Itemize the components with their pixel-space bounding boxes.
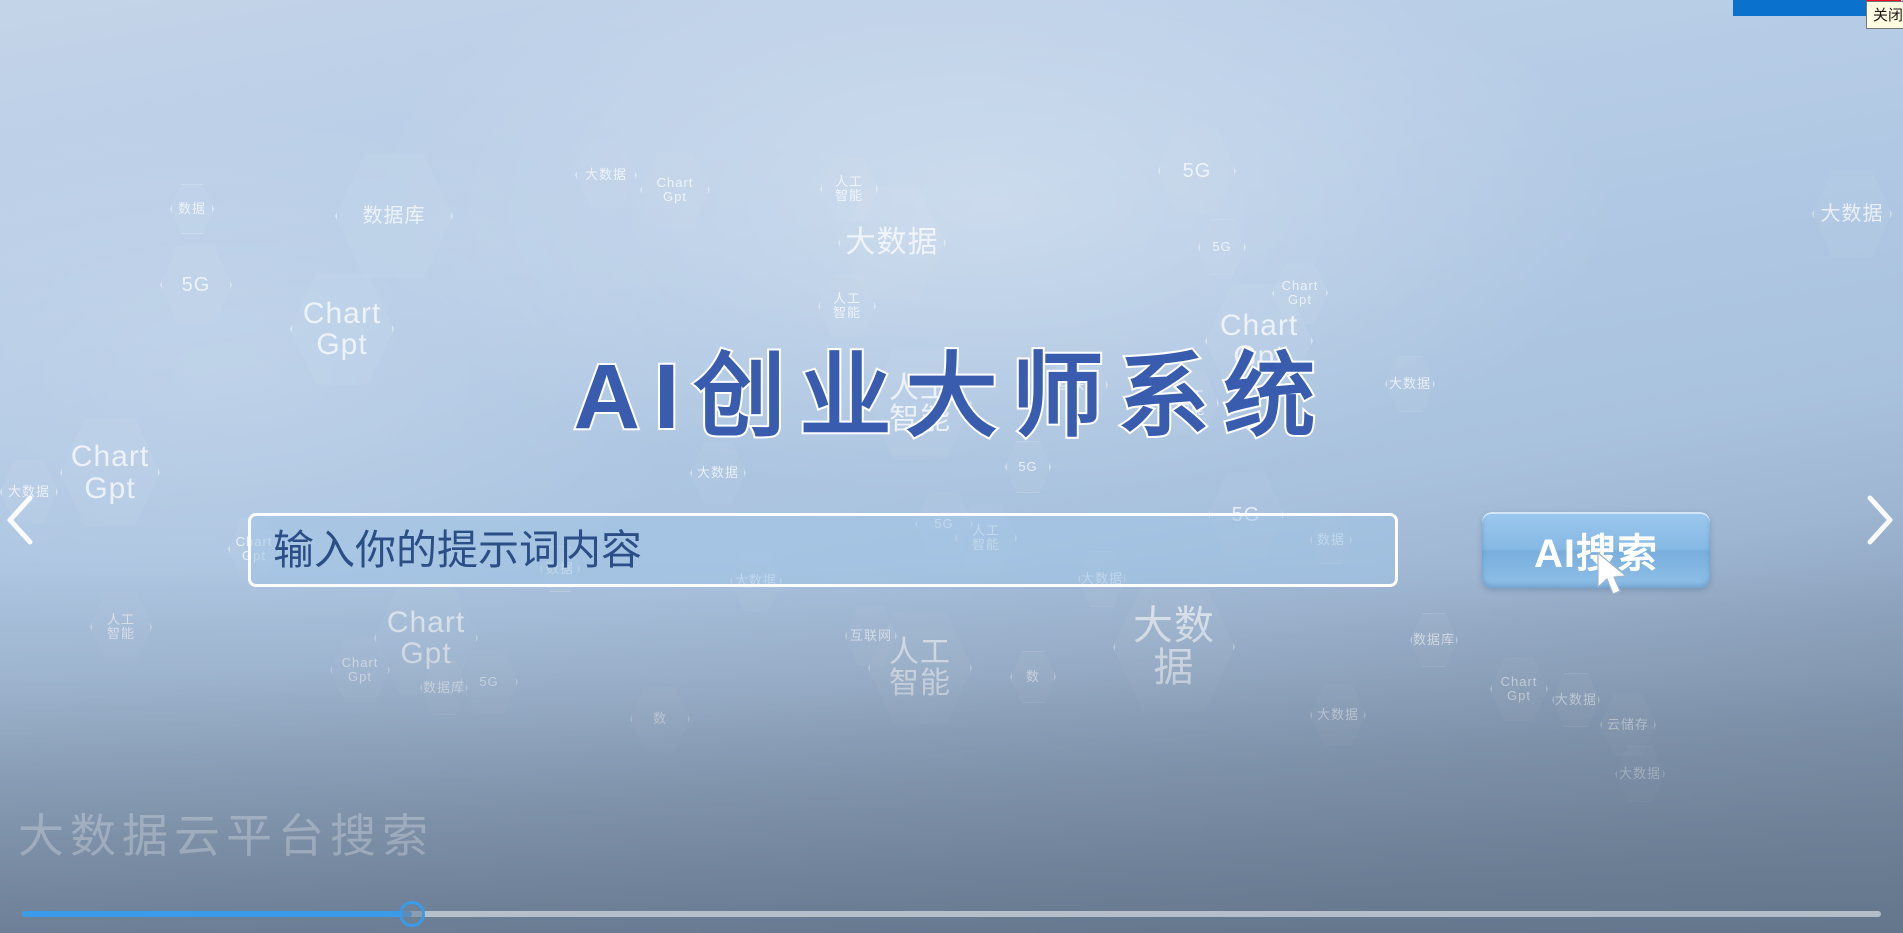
hexagon-tag: 大数据	[575, 140, 637, 210]
search-row: AI搜索	[248, 512, 1710, 588]
slide-canvas: 数据库大数据ChartGpt5G大数据人工智能大数据人工智能5GChartGpt…	[0, 0, 1903, 933]
hexagon-label: ChartGpt	[1282, 279, 1319, 306]
hexagon-tag: 大数据	[1812, 168, 1892, 260]
hexagon-label: 5G	[1183, 161, 1212, 182]
hexagon-label: 大数据	[697, 466, 739, 480]
hexagon-tag: 人工智能	[868, 608, 972, 728]
hexagon-tag: 数据库	[420, 660, 468, 716]
hexagon-label: 大数据	[1317, 708, 1359, 722]
progress-slider[interactable]	[22, 911, 1881, 917]
hexagon-tag: 云储存	[1600, 692, 1656, 758]
hexagon-tag: 数	[1010, 650, 1056, 704]
hexagon-tag: ChartGpt	[1490, 655, 1548, 723]
hexagon-tag: ChartGpt	[374, 578, 478, 698]
titlebar-strip	[1733, 0, 1866, 16]
hexagon-tag: 数据库	[335, 150, 453, 282]
hexagon-label: 数据库	[1413, 633, 1455, 647]
search-input[interactable]	[248, 513, 1398, 587]
hexagon-tag: 数据	[170, 183, 214, 235]
hexagon-label: 云储存	[1607, 718, 1649, 732]
hexagon-label: 大数据	[846, 227, 939, 259]
hexagon-label: 5G	[182, 275, 211, 296]
hexagon-tag: 人工智能	[90, 590, 152, 664]
background-haze	[0, 560, 1903, 933]
hexagon-tag: 大数据	[838, 183, 946, 303]
hexagon-label: 人工智能	[889, 637, 951, 700]
hexagon-label: 5G	[1212, 240, 1231, 254]
background-sheen	[0, 0, 1903, 933]
hexagon-decoration-layer: 数据库大数据ChartGpt5G大数据人工智能大数据人工智能5GChartGpt…	[0, 0, 1903, 933]
hexagon-label: 大数据	[1115, 605, 1233, 689]
hexagon-label: 互联网	[850, 629, 892, 643]
hexagon-tag: 数	[630, 685, 690, 753]
hexagon-label: 数据库	[363, 206, 426, 227]
hexagon-label: ChartGpt	[387, 607, 465, 670]
hexagon-label: 人工智能	[833, 292, 861, 319]
hexagon-label: 数	[1026, 670, 1040, 684]
hexagon-tag: 大数据	[1615, 745, 1665, 803]
hexagon-label: 大数据	[585, 168, 627, 182]
close-tooltip: 关闭	[1866, 1, 1903, 29]
hexagon-label: 大数据	[1555, 693, 1597, 707]
hexagon-label: 数	[653, 712, 667, 726]
chevron-left-icon[interactable]	[2, 492, 42, 548]
slider-handle[interactable]	[399, 901, 425, 927]
hexagon-tag: ChartGpt	[1272, 260, 1328, 326]
hexagon-tag: 大数据	[1310, 682, 1366, 748]
hexagon-tag: 5G	[460, 648, 518, 716]
hexagon-tag: 互联网	[845, 605, 897, 667]
hexagon-label: 数据	[178, 202, 206, 216]
hexagon-tag: 大数据	[1113, 578, 1235, 716]
hexagon-label: 5G	[1018, 460, 1037, 474]
hexagon-label: ChartGpt	[1501, 675, 1538, 702]
hexagon-tag: ChartGpt	[640, 150, 710, 230]
hexagon-tag: 5G	[1198, 218, 1246, 276]
hexagon-label: 5G	[479, 675, 498, 689]
chevron-right-icon[interactable]	[1858, 492, 1898, 548]
hexagon-tag: 5G	[1158, 125, 1236, 217]
hexagon-label: 人工智能	[835, 175, 863, 202]
hexagon-tag: 数据库	[1410, 612, 1458, 668]
hexagon-label: 数据库	[423, 681, 465, 695]
hexagon-label: 大数据	[1821, 204, 1884, 225]
hexagon-tag: 大数据	[1552, 672, 1600, 728]
hexagon-label: ChartGpt	[342, 656, 379, 683]
hexagon-tag: 人工智能	[820, 155, 878, 223]
hexagon-tag: ChartGpt	[330, 635, 390, 705]
hexagon-label: 大数据	[1619, 767, 1661, 781]
hexagon-tag: 5G	[160, 243, 232, 327]
hexagon-label: ChartGpt	[657, 176, 694, 203]
ai-search-button[interactable]: AI搜索	[1482, 512, 1710, 588]
page-title: AI创业大师系统	[0, 322, 1903, 455]
hexagon-label: 人工智能	[107, 613, 135, 640]
slider-fill	[22, 911, 412, 917]
watermark-text: 大数据云平台搜索	[18, 800, 434, 866]
